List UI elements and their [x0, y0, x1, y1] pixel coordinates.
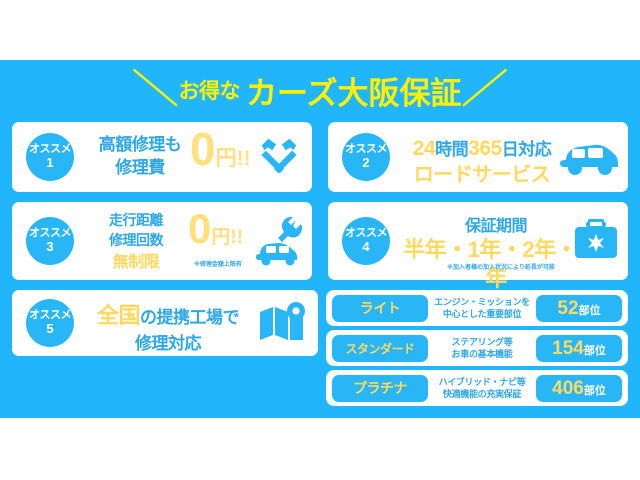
feature-card-4: オススメ 4 保証期間 半年・1年・2年・3年 ※加入者様の加入状況により延長が…: [328, 202, 628, 280]
badge-osusume-2: オススメ 2: [342, 133, 390, 181]
crossed-hammers-icon: [256, 134, 302, 185]
badge-osusume-5: オススメ 5: [26, 299, 74, 347]
plan-desc-line-2: お車の基本機能: [431, 348, 533, 360]
car-icon: [558, 138, 620, 181]
card-5-line-1: 全国の提携工場で: [84, 300, 252, 332]
plan-count-number: 406: [552, 375, 584, 402]
card-1-line-2: 修理費: [82, 157, 198, 180]
card-2-line-2: ロードサービス: [402, 163, 562, 188]
feature-card-1: オススメ 1 高額修理も 修理費 0円!!: [12, 122, 312, 192]
card-1-zero: 0: [190, 123, 216, 175]
wrench-car-icon: [252, 216, 304, 271]
plan-name-pill: ライト: [332, 295, 428, 322]
slash-right-decoration: ／: [461, 70, 508, 109]
plan-description: エンジン・ミッションを 中心とした重要部位: [428, 296, 536, 320]
plan-row-light[interactable]: ライト エンジン・ミッションを 中心とした重要部位 52部位: [326, 290, 628, 326]
badge-number: 1: [46, 156, 53, 170]
card-4-heading: 保証期間: [398, 212, 594, 236]
advertisement-canvas: ＼ お得な カーズ大阪保証 ／ オススメ 1 高額修理も 修理費 0円!!: [0, 0, 640, 480]
card-2-days-unit: 日対応: [502, 140, 552, 159]
badge-osusume-3: オススメ 3: [26, 217, 74, 265]
plan-count-unit: 部位: [579, 298, 601, 325]
feature-card-5: オススメ 5 全国の提携工場で 修理対応: [12, 290, 318, 356]
plan-desc-line-2: 快適機能の充実保証: [431, 388, 533, 400]
card-3-zero: 0: [188, 205, 211, 252]
card-2-hours: 24: [413, 137, 435, 160]
card-5-rest: の提携工場で: [140, 308, 239, 327]
card-2-hours-unit: 時間: [435, 140, 468, 159]
card-4-note: ※加入者様の加入状況により延長が可能: [416, 262, 586, 271]
title-prefix: お得な: [179, 75, 241, 105]
plan-description: ステアリング等 お車の基本機能: [428, 336, 536, 360]
feature-card-3: オススメ 3 走行距離 修理回数 無制限 0円!! ※修理金額上限有: [12, 202, 312, 280]
card-1-line-1: 高額修理も: [82, 134, 198, 157]
plan-desc-line-1: エンジン・ミッションを: [431, 296, 533, 308]
badge-number: 4: [362, 240, 369, 254]
plan-count-number: 154: [552, 335, 584, 362]
page-title: ＼ お得な カーズ大阪保証 ／: [0, 62, 640, 118]
badge-number: 5: [46, 322, 53, 336]
toolbox-icon: [572, 216, 620, 267]
feature-card-2: オススメ 2 24時間365日対応 ロードサービス: [328, 122, 628, 192]
badge-osusume-1: オススメ 1: [26, 133, 74, 181]
plan-description: ハイブリッド・ナビ等 快適機能の充実保証: [428, 376, 536, 400]
card-1-text: 高額修理も 修理費: [82, 134, 198, 180]
plan-row-standard[interactable]: スタンダード ステアリング等 お車の基本機能 154部位: [326, 330, 628, 366]
card-5-line-2: 修理対応: [84, 332, 252, 357]
plan-count-pill: 52部位: [536, 295, 622, 322]
card-2-days: 365: [468, 137, 502, 160]
plan-count-number: 52: [557, 295, 578, 322]
badge-osusume-4: オススメ 4: [342, 217, 390, 265]
plan-name-pill: プラチナ: [332, 375, 428, 402]
badge-number: 3: [46, 240, 53, 254]
title-main: カーズ大阪保証: [246, 68, 461, 113]
plan-count-unit: 部位: [584, 378, 606, 405]
card-3-line-3: 無制限: [84, 251, 188, 274]
plan-count-pill: 154部位: [536, 335, 622, 362]
plan-desc-line-1: ステアリング等: [431, 336, 533, 348]
card-5-highlight: 全国: [97, 303, 140, 328]
card-3-note: ※修理金額上限有: [194, 259, 242, 268]
plan-count-unit: 部位: [584, 338, 606, 365]
card-3-line-2: 修理回数: [84, 230, 188, 250]
plan-desc-line-2: 中心とした重要部位: [431, 308, 533, 320]
plan-desc-line-1: ハイブリッド・ナビ等: [431, 376, 533, 388]
plan-row-platinum[interactable]: プラチナ ハイブリッド・ナビ等 快適機能の充実保証 406部位: [326, 370, 628, 406]
card-1-yen: 円!!: [216, 147, 251, 170]
card-3-price: 0円!!: [188, 208, 243, 250]
card-1-price: 0円!!: [190, 126, 251, 172]
card-2-text: 24時間365日対応 ロードサービス: [402, 134, 562, 188]
slash-left-decoration: ＼: [132, 70, 179, 109]
plan-name-pill: スタンダード: [332, 335, 428, 362]
card-3-yen: 円!!: [211, 227, 243, 248]
card-5-text: 全国の提携工場で 修理対応: [84, 300, 252, 357]
plan-count-pill: 406部位: [536, 375, 622, 402]
badge-number: 2: [362, 156, 369, 170]
card-4-text: 保証期間 半年・1年・2年・3年: [398, 212, 594, 293]
map-pin-icon: [258, 302, 310, 349]
card-3-text: 走行距離 修理回数 無制限: [84, 210, 188, 274]
card-3-line-1: 走行距離: [84, 210, 188, 230]
card-2-line-1: 24時間365日対応: [402, 134, 562, 163]
